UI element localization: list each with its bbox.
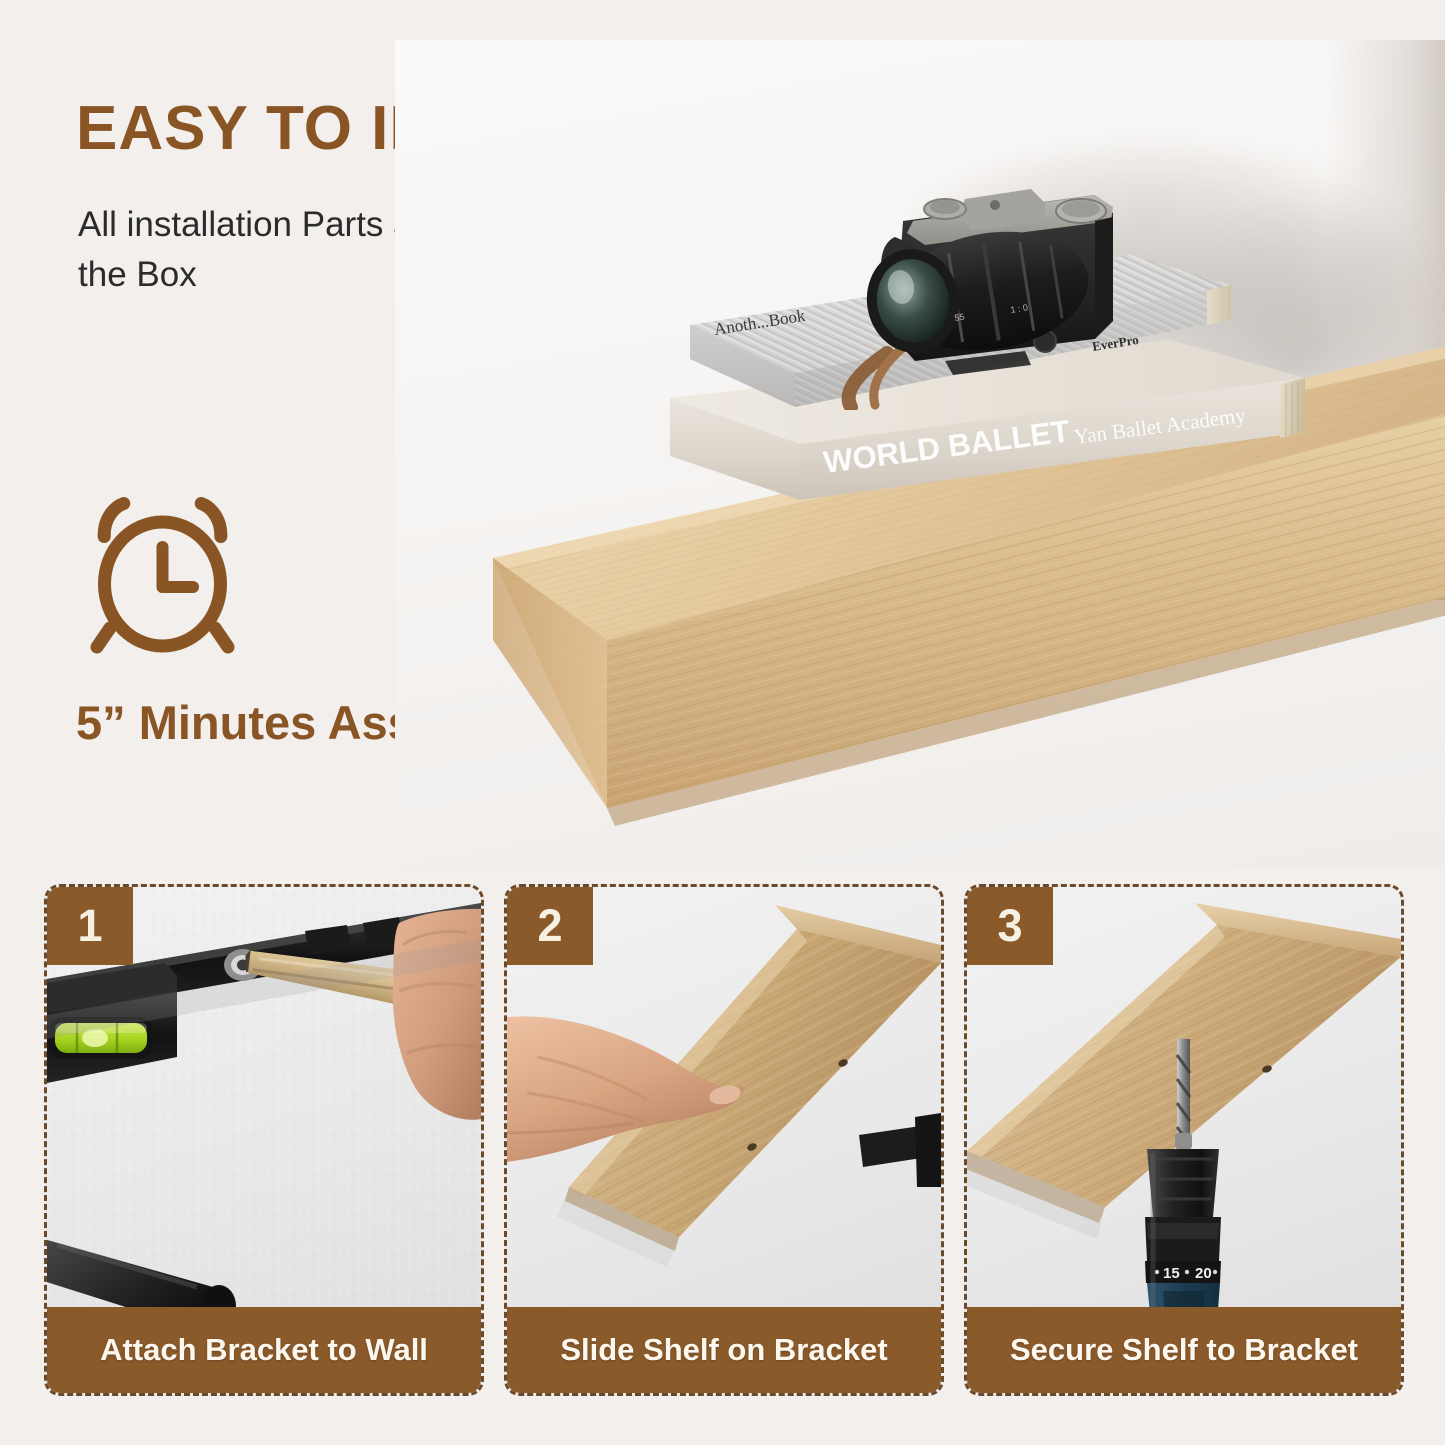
- step-caption-1: Attach Bracket to Wall: [47, 1307, 481, 1393]
- cordless-drill: 15 20: [1145, 1149, 1221, 1323]
- install-steps: 1 Attach Bracket to Wall: [44, 884, 1404, 1396]
- step-panel-1[interactable]: 1 Attach Bracket to Wall: [44, 884, 484, 1396]
- camera: 55 1 : 0: [795, 125, 1135, 410]
- drill-bit: [1175, 1039, 1192, 1159]
- hand: [393, 909, 481, 1120]
- step-caption-1-text: Attach Bracket to Wall: [100, 1332, 428, 1368]
- infographic-canvas: EASY TO INSTALL All installation Parts a…: [0, 0, 1445, 1445]
- drill-marking-20: 20: [1195, 1265, 1212, 1282]
- step-badge-3: 3: [967, 887, 1053, 965]
- step-caption-2: Slide Shelf on Bracket: [507, 1307, 941, 1393]
- step-badge-2: 2: [507, 887, 593, 965]
- drill-marking-15: 15: [1163, 1265, 1180, 1282]
- hero-product-photo: WORLD BALLET Yan Ballet Academy: [395, 40, 1445, 870]
- step-caption-2-text: Slide Shelf on Bracket: [560, 1332, 887, 1368]
- step-panel-3[interactable]: 15 20 3 Secure Shelf to Bracket: [964, 884, 1404, 1396]
- step-caption-3: Secure Shelf to Bracket: [967, 1307, 1401, 1393]
- step-caption-3-text: Secure Shelf to Bracket: [1010, 1332, 1358, 1368]
- step-panel-2[interactable]: 2 Slide Shelf on Bracket: [504, 884, 944, 1396]
- step-badge-1: 1: [47, 887, 133, 965]
- alarm-clock-icon: [80, 495, 245, 660]
- bracket-arm: [859, 1113, 941, 1187]
- svg-text:55: 55: [954, 312, 965, 323]
